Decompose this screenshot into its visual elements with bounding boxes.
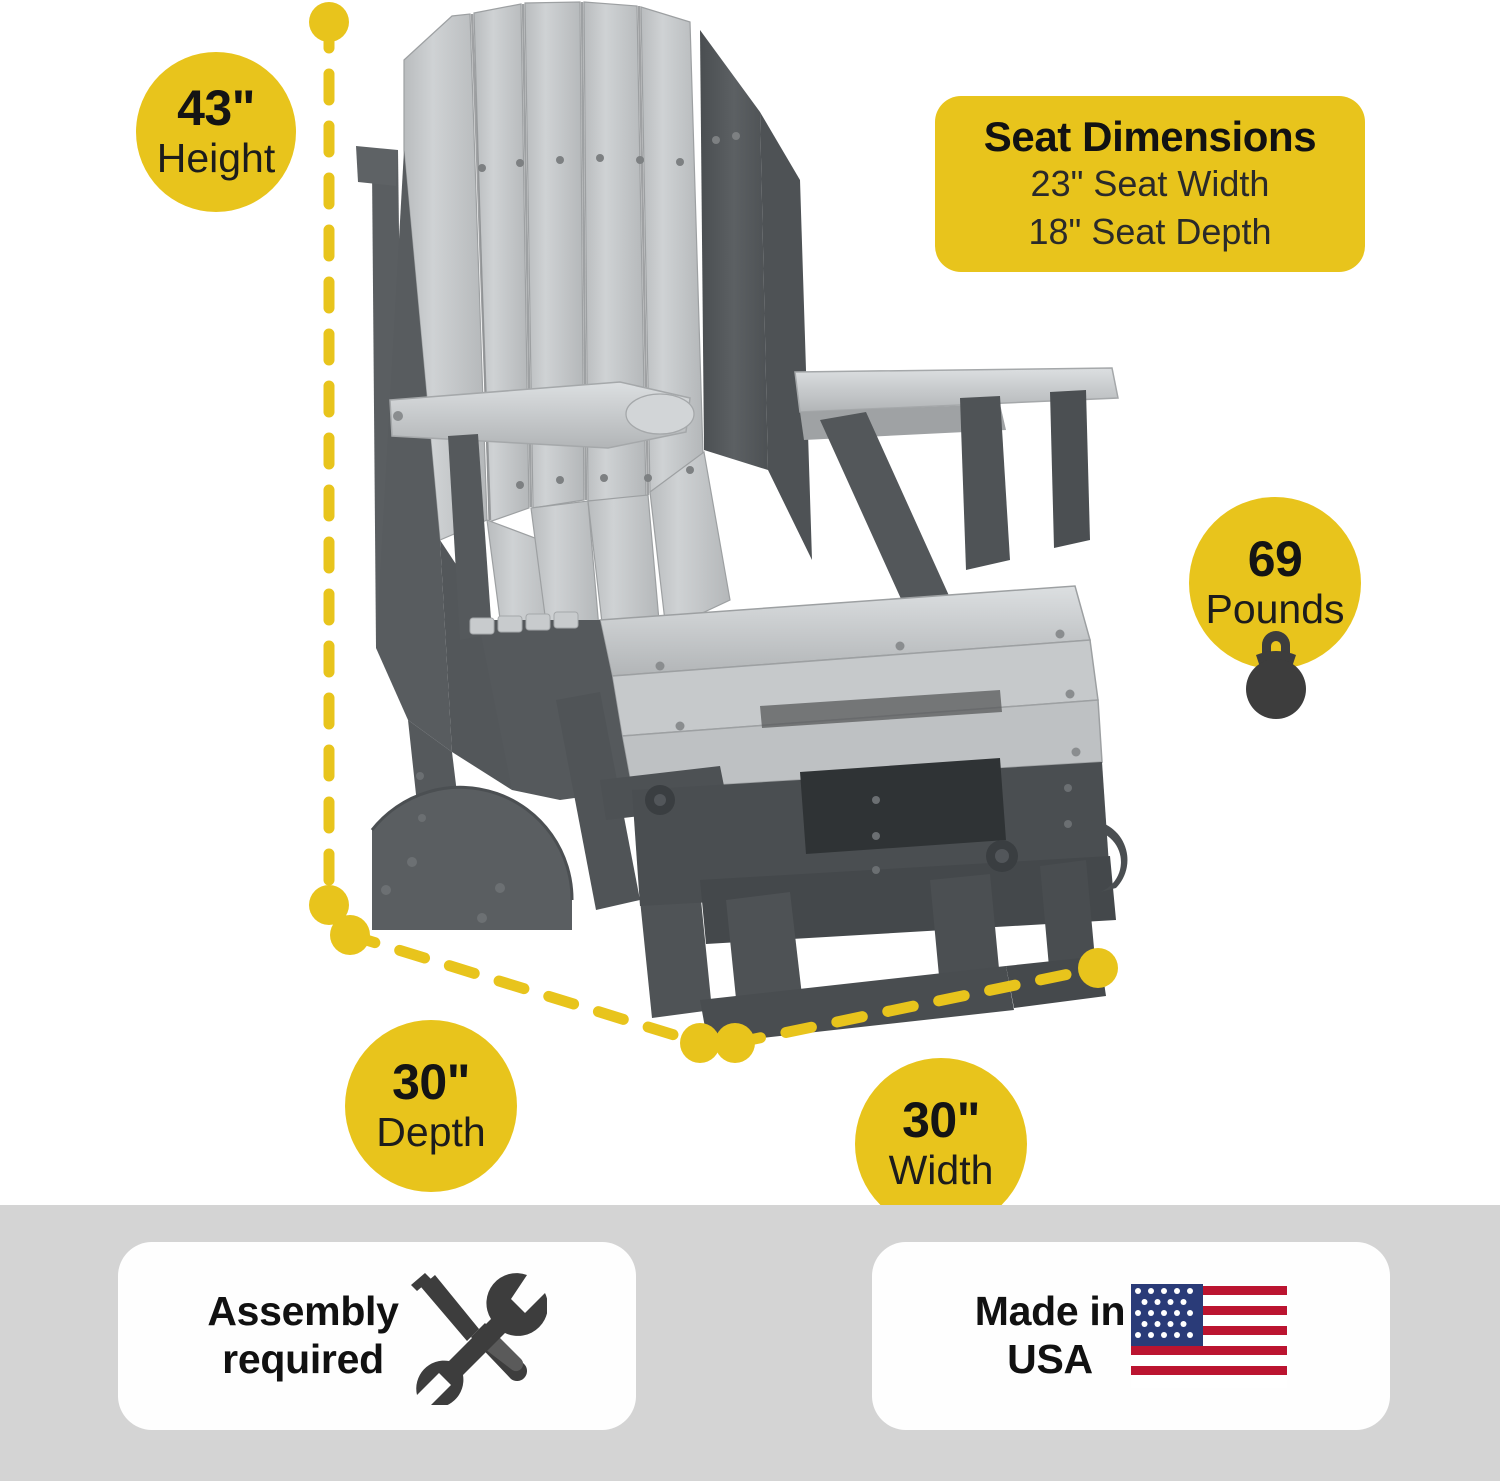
depth-value: 30" bbox=[392, 1058, 470, 1107]
seat-width-text: 23" Seat Width bbox=[1031, 160, 1270, 208]
height-label: Height bbox=[157, 137, 276, 180]
made-in-usa-label: Made in USA bbox=[975, 1288, 1126, 1383]
assembly-required-card: Assembly required bbox=[118, 1242, 636, 1430]
width-value: 30" bbox=[902, 1096, 980, 1145]
infographic-canvas: 43" Height 69 Pounds 30" Depth 30" Width… bbox=[0, 0, 1500, 1481]
kettlebell-icon bbox=[1232, 625, 1320, 721]
depth-badge: 30" Depth bbox=[345, 1020, 517, 1192]
wrench-screwdriver-icon bbox=[405, 1267, 547, 1405]
width-label: Width bbox=[889, 1149, 994, 1192]
seat-depth-text: 18" Seat Depth bbox=[1029, 208, 1272, 256]
weight-value: 69 bbox=[1248, 535, 1303, 584]
seat-dimensions-title: Seat Dimensions bbox=[984, 113, 1316, 160]
assembly-required-label: Assembly required bbox=[207, 1288, 398, 1383]
made-in-usa-card: Made in USA bbox=[872, 1242, 1390, 1430]
height-value: 43" bbox=[177, 84, 255, 133]
seat-dimensions-callout: Seat Dimensions 23" Seat Width 18" Seat … bbox=[935, 96, 1365, 272]
usa-flag-icon bbox=[1131, 1284, 1287, 1388]
height-badge: 43" Height bbox=[136, 52, 296, 212]
depth-label: Depth bbox=[376, 1111, 485, 1154]
